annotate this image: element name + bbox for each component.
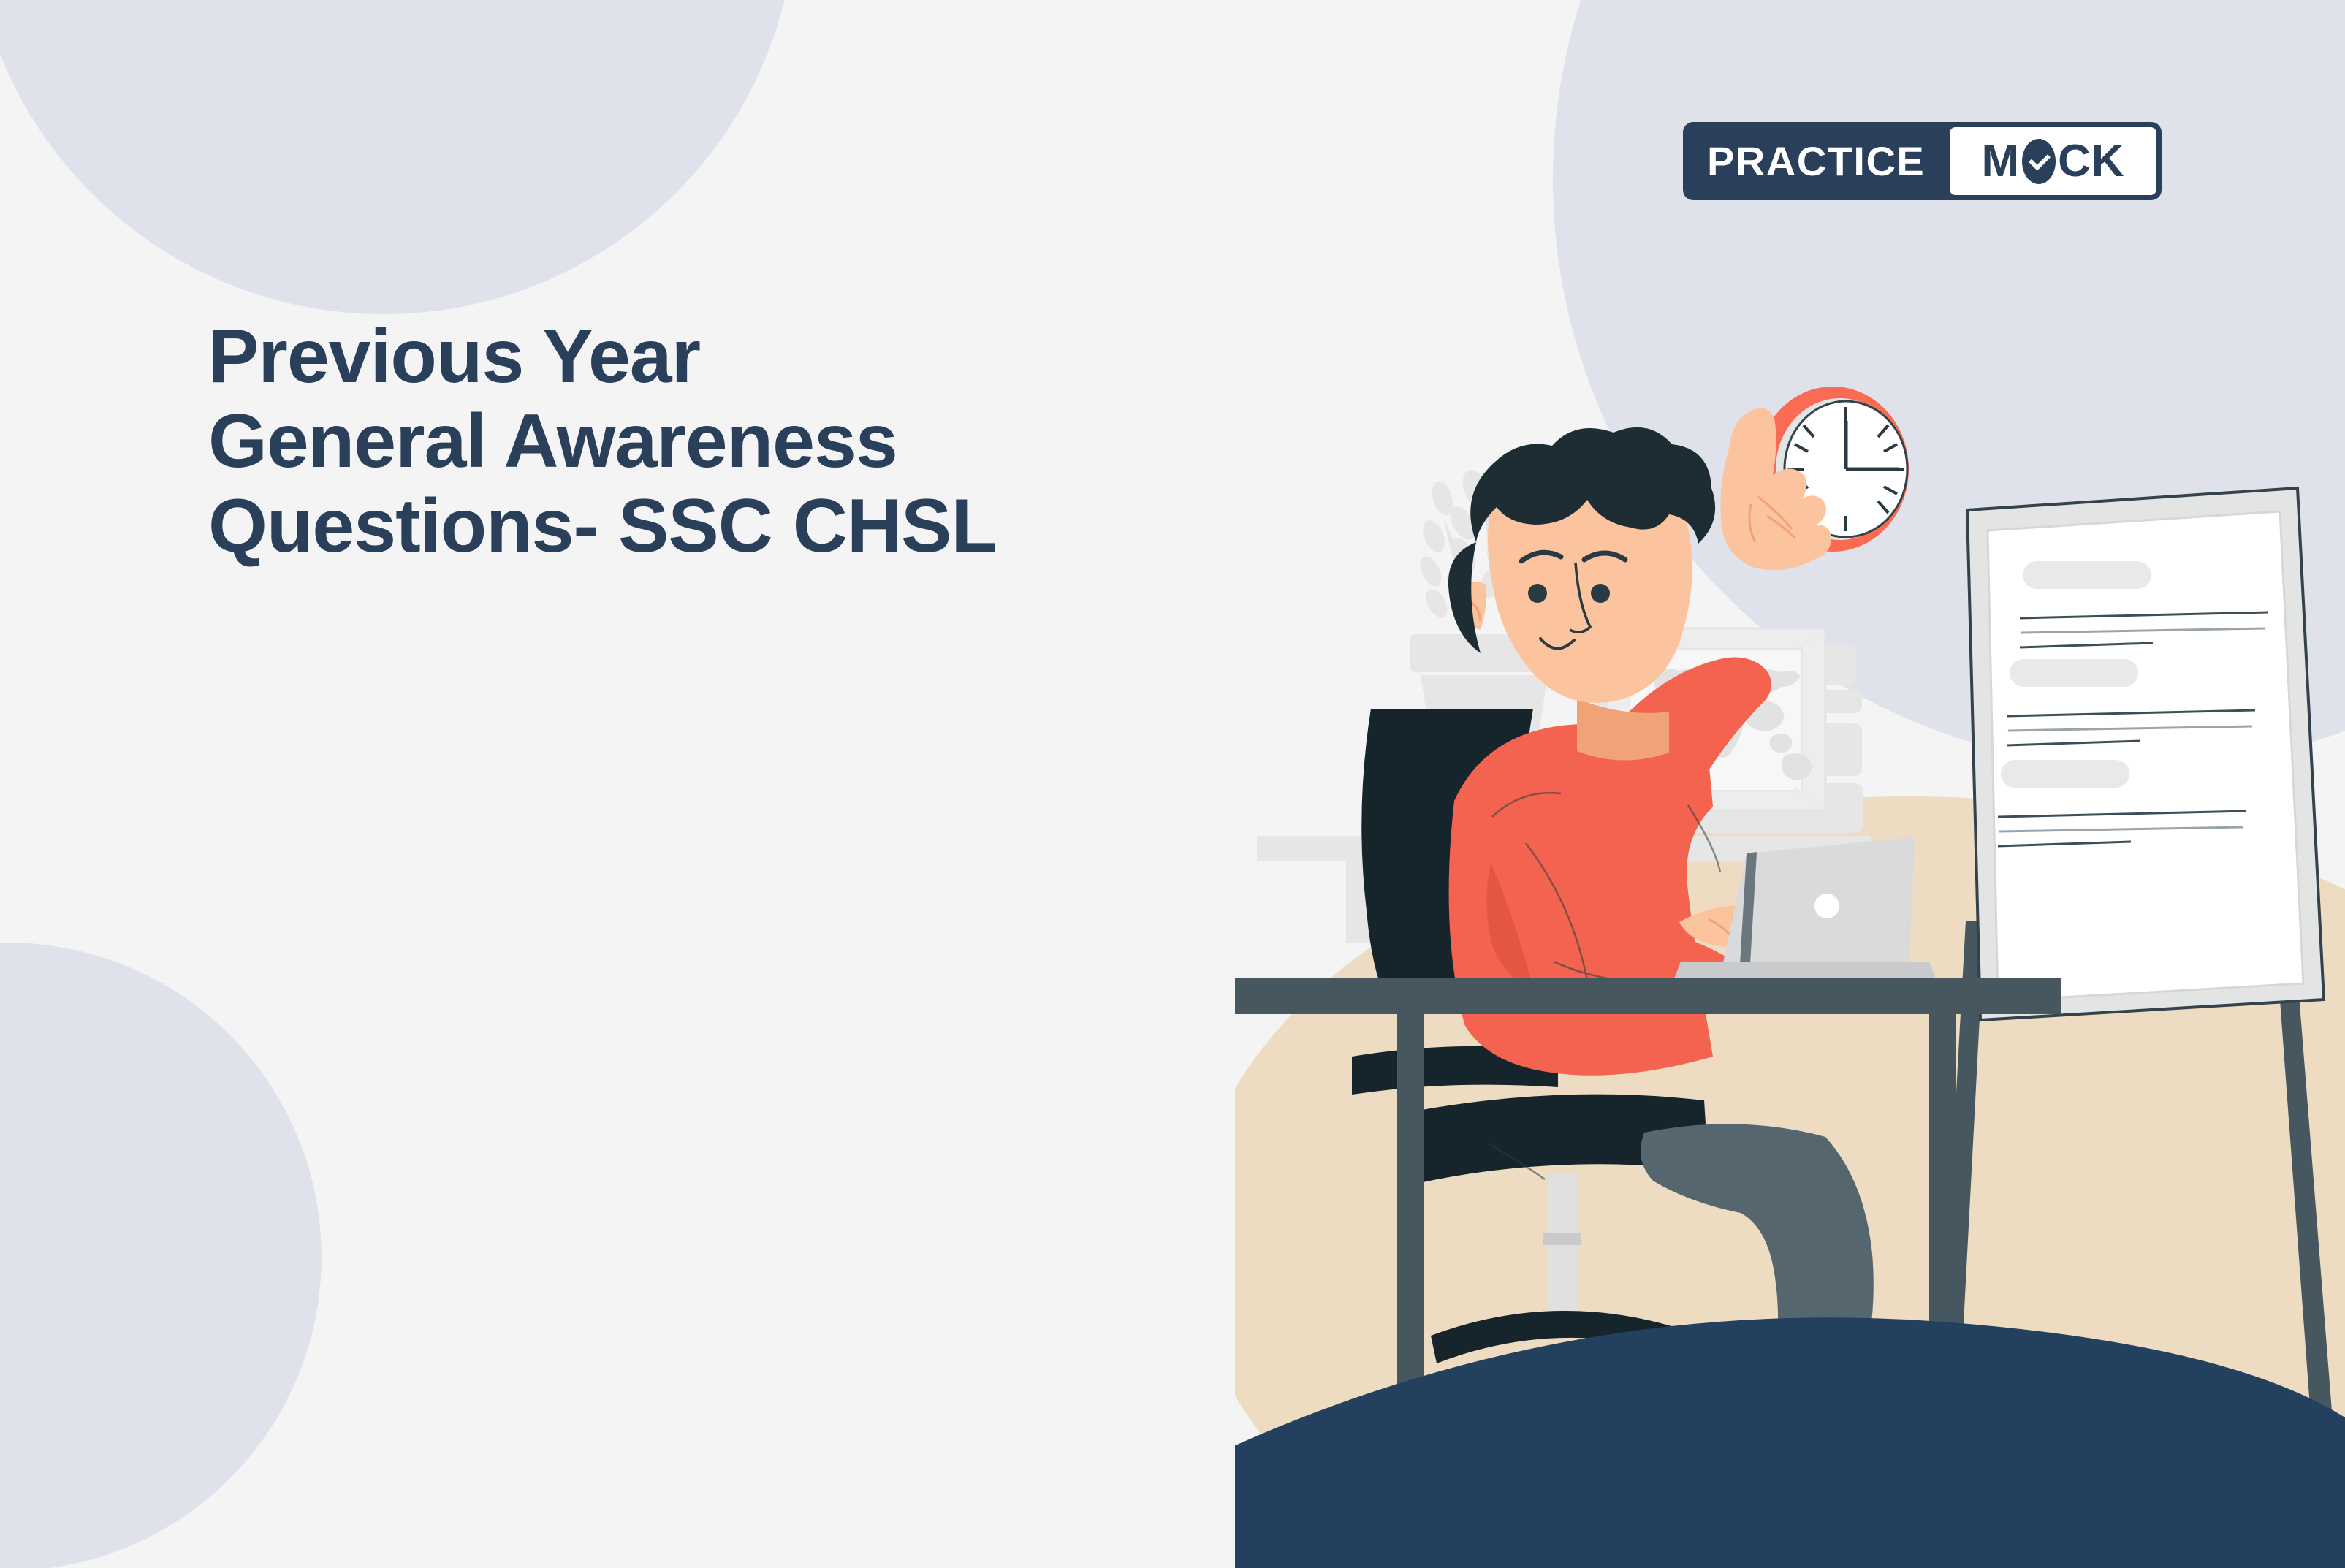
logo-mock-text: M CK [1982,135,2125,187]
title-line-3: Questions- SSC CHSL [208,484,1377,568]
page-title: Previous Year General Awareness Question… [208,314,1377,568]
title-line-1: Previous Year [208,314,1377,399]
logo-mock-letter-m: M [1982,135,2021,187]
logo-mock-box: M CK [1950,127,2156,195]
decorative-circle-top-left [0,0,797,314]
illustration-student-at-desk: GALAXY [1235,380,2345,1568]
banner-canvas: GALAXY [0,0,2345,1568]
logo-mock-letters-ck: CK [2058,135,2125,187]
title-line-2: General Awareness [208,399,1377,484]
logo-practice-text: PRACTICE [1688,127,1950,195]
practicemock-logo[interactable]: PRACTICE M CK [1683,122,2162,200]
decorative-circle-bottom-left [0,943,322,1568]
check-in-circle-icon [2022,139,2056,184]
